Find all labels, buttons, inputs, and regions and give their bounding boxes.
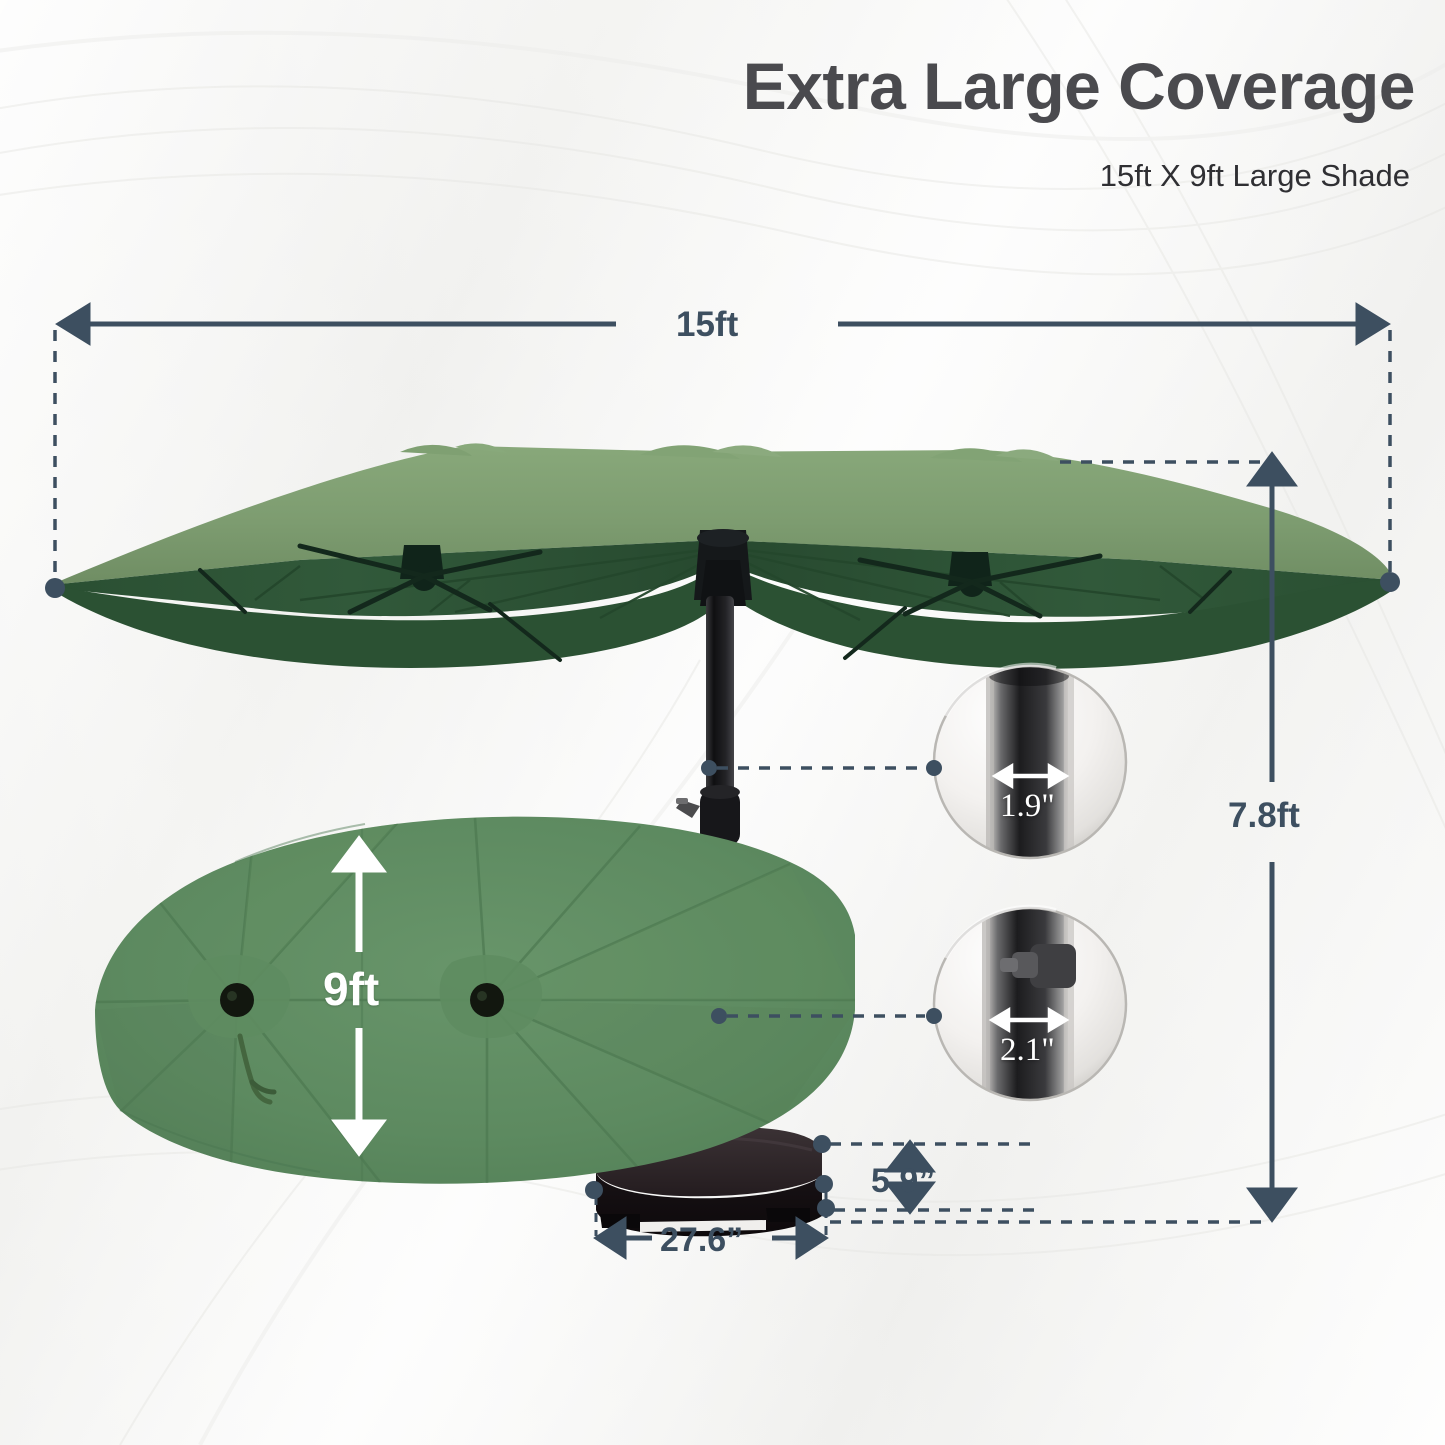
dimension-label-canopy-depth: 9ft (323, 962, 379, 1016)
callout-leader-lower-pole (711, 1008, 942, 1024)
callout-leader-upper-pole (701, 760, 942, 776)
dimension-label-width: 15ft (676, 305, 738, 345)
callout-label-upper-pole: 1.9" (1000, 788, 1055, 825)
dimension-7-8ft (830, 452, 1297, 1222)
dimension-15ft (45, 303, 1400, 598)
callout-label-lower-pole: 2.1" (1000, 1032, 1055, 1069)
infographic-canvas: Extra Large Coverage 15ft X 9ft Large Sh… (0, 0, 1445, 1445)
dimension-label-height: 7.8ft (1228, 796, 1300, 836)
page-title: Extra Large Coverage (0, 48, 1415, 124)
dimension-label-base-width: 27.6” (660, 1221, 743, 1260)
dimension-label-base-height: 5.9” (871, 1162, 935, 1201)
page-subtitle: 15ft X 9ft Large Shade (1100, 158, 1410, 194)
